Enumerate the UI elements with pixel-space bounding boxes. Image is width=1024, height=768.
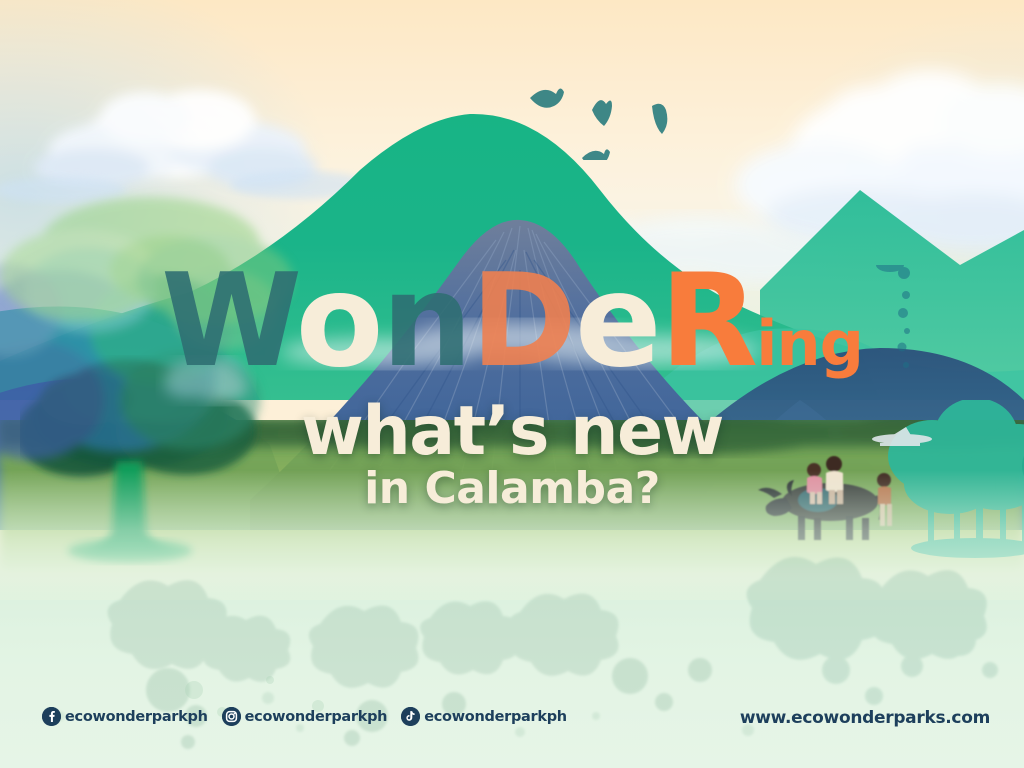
tiktok-icon[interactable] [401, 707, 420, 726]
headline-letter-r: R [660, 247, 757, 396]
social-item-tiktok[interactable]: ecowonderparkph [401, 707, 567, 726]
instagram-handle[interactable]: ecowonderparkph [245, 709, 388, 725]
social-item-instagram[interactable]: ecowonderparkph [222, 707, 388, 726]
headline-letter-d: D [471, 247, 575, 396]
splat-group-right [747, 557, 998, 705]
poster-canvas: WonDeRing what’s new in Calamba? ecowond… [0, 0, 1024, 768]
tiktok-handle[interactable]: ecowonderparkph [424, 709, 567, 725]
instagram-icon[interactable] [222, 707, 241, 726]
headline-suffix-ing: ing [756, 307, 863, 380]
headline-letter-w: W [161, 247, 296, 396]
website-url[interactable]: www.ecowonderparks.com [740, 708, 990, 728]
subtitle-line-2: in Calamba? [0, 463, 1024, 514]
subtitle-line-1: what’s new [0, 392, 1024, 471]
social-handles-bar: ecowonderparkph ecowonderparkph ecow [42, 707, 581, 726]
headline-wondering: WonDeRing [0, 258, 1024, 386]
headline-letter-e: e [575, 247, 660, 396]
facebook-handle[interactable]: ecowonderparkph [65, 709, 208, 725]
footer-splat-accents [170, 650, 570, 760]
headline-letter-o: o [296, 247, 382, 396]
social-item-facebook[interactable]: ecowonderparkph [42, 707, 208, 726]
facebook-icon[interactable] [42, 707, 61, 726]
headline-letter-n: n [382, 247, 471, 396]
